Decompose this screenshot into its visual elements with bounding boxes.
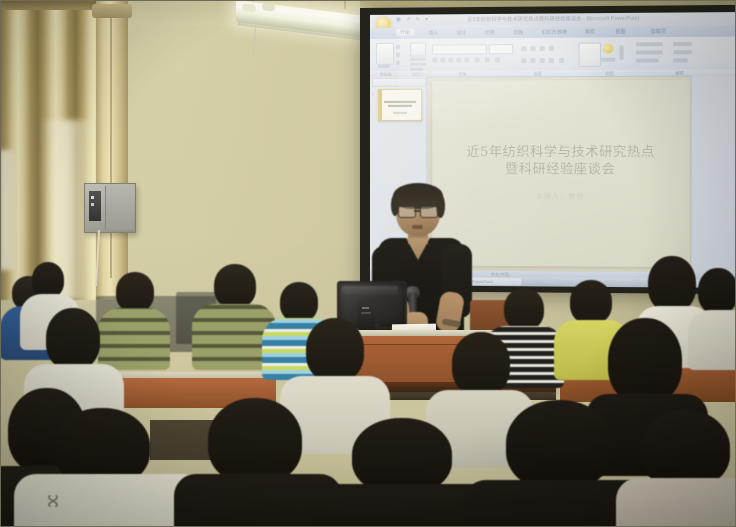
tab-view[interactable]: 视图 bbox=[615, 28, 625, 35]
decrease-indent-icon[interactable] bbox=[540, 46, 545, 51]
audience-member bbox=[318, 418, 488, 527]
tab-insert[interactable]: 插入 bbox=[428, 29, 438, 36]
increase-indent-icon[interactable] bbox=[549, 46, 554, 51]
font-name-combo[interactable] bbox=[432, 44, 487, 54]
align-right-icon[interactable] bbox=[540, 58, 545, 63]
shape-outline-button[interactable] bbox=[636, 42, 663, 46]
find-button[interactable] bbox=[673, 42, 692, 46]
quick-styles-button[interactable] bbox=[636, 58, 659, 62]
shadow-icon[interactable] bbox=[456, 57, 461, 62]
eyeglasses-icon bbox=[420, 206, 438, 218]
person-head bbox=[32, 262, 64, 298]
reset-button[interactable] bbox=[410, 63, 426, 66]
lecture-hall-photo: 近5年纺织科学与技术研究热点暨科研经验座谈会 - Microsoft Power… bbox=[0, 0, 736, 527]
align-left-icon[interactable] bbox=[521, 58, 526, 63]
underline-icon[interactable] bbox=[448, 58, 453, 63]
person-head bbox=[280, 282, 318, 322]
tab-review[interactable]: 审阅 bbox=[585, 28, 595, 35]
person-head bbox=[214, 264, 256, 308]
person-head bbox=[46, 308, 100, 370]
slide-title: 近5年纺织科学与技术研究热点 暨科研经验座谈会 bbox=[432, 143, 690, 178]
optical-drive-icon bbox=[361, 312, 371, 314]
arrange-button[interactable] bbox=[601, 58, 615, 62]
italic-icon[interactable] bbox=[440, 58, 445, 63]
slide-title-line-2: 暨科研经验座谈会 bbox=[432, 161, 690, 178]
person-head bbox=[306, 318, 364, 382]
thumbnail-title-line bbox=[384, 101, 416, 103]
tab-home[interactable]: 开始 bbox=[396, 29, 414, 36]
cut-icon[interactable] bbox=[396, 45, 400, 49]
layout-button[interactable] bbox=[410, 58, 426, 61]
lamp-end-cap bbox=[242, 3, 256, 13]
powerpoint-title-text: 近5年纺织科学与技术研究热点暨科研经验座谈会 - Microsoft Power… bbox=[467, 15, 639, 23]
bullets-icon[interactable] bbox=[521, 46, 526, 51]
group-label-font: 字体 bbox=[458, 72, 466, 78]
select-button[interactable] bbox=[673, 58, 688, 62]
thumbnail-tab-slides[interactable] bbox=[372, 78, 426, 87]
copy-icon[interactable] bbox=[396, 53, 400, 57]
audience-member bbox=[24, 408, 194, 527]
quick-access-toolbar[interactable]: ▣ ↺ ↻ ▾ bbox=[396, 16, 430, 22]
bold-icon[interactable] bbox=[432, 58, 437, 63]
electrical-box-door bbox=[105, 186, 134, 230]
font-size-combo[interactable] bbox=[489, 44, 513, 54]
numbering-icon[interactable] bbox=[530, 46, 535, 51]
eyeglasses-icon bbox=[398, 206, 416, 218]
paste-label bbox=[378, 65, 390, 68]
tab-animations[interactable]: 动画 bbox=[513, 29, 523, 36]
thumbnail-accent-bar bbox=[379, 90, 382, 120]
person-head bbox=[698, 268, 736, 314]
person-head bbox=[648, 256, 696, 312]
electrical-box bbox=[84, 183, 136, 233]
char-spacing-icon[interactable] bbox=[475, 57, 480, 62]
indicator-led-icon bbox=[91, 203, 94, 206]
audience-member bbox=[620, 410, 736, 527]
audience-member bbox=[196, 264, 272, 364]
format-painter-icon[interactable] bbox=[396, 61, 400, 65]
power-button-icon bbox=[362, 307, 369, 309]
shirt-pinwheel-logo-icon bbox=[46, 494, 60, 508]
indicator-led-icon bbox=[91, 196, 94, 199]
pillar-cap bbox=[92, 4, 132, 18]
columns-icon[interactable] bbox=[559, 58, 564, 63]
font-color-icon[interactable] bbox=[495, 57, 500, 62]
monitor-glare bbox=[342, 286, 398, 296]
paste-button[interactable] bbox=[376, 43, 394, 65]
group-label-drawing: 绘图 bbox=[605, 71, 613, 77]
pillar-seam bbox=[110, 18, 112, 278]
presenter-mouth bbox=[412, 225, 423, 229]
tab-design[interactable]: 设计 bbox=[456, 29, 466, 36]
group-label-editing: 编辑 bbox=[675, 71, 683, 77]
shape-effects-button[interactable] bbox=[636, 50, 663, 54]
person-head bbox=[504, 288, 544, 330]
person-head bbox=[452, 332, 510, 396]
tab-transitions[interactable]: 切换 bbox=[485, 29, 495, 36]
thumbnail-title-line bbox=[388, 105, 412, 107]
person-head bbox=[640, 410, 730, 488]
thumbnail-sub-line bbox=[393, 112, 407, 114]
slide-thumbnail-1[interactable] bbox=[378, 89, 422, 121]
slide-title-line-1: 近5年纺织科学与技术研究热点 bbox=[432, 143, 690, 160]
change-case-icon[interactable] bbox=[485, 57, 490, 62]
person-torso bbox=[616, 478, 736, 527]
new-slide-button[interactable] bbox=[410, 43, 426, 57]
person-head bbox=[116, 272, 154, 312]
wall-pillar bbox=[96, 0, 128, 300]
tab-addins[interactable]: 加载项 bbox=[650, 28, 666, 35]
person-head bbox=[208, 398, 302, 484]
strikethrough-icon[interactable] bbox=[464, 57, 469, 62]
ceiling-light-fixture bbox=[236, 0, 376, 42]
shapes-gallery[interactable] bbox=[578, 43, 601, 67]
quick-styles-icon[interactable] bbox=[620, 45, 624, 59]
person-head bbox=[352, 418, 452, 494]
thumbnail-slide-number: 1 bbox=[372, 91, 374, 96]
audience-member bbox=[182, 398, 332, 527]
lamp-end-cap bbox=[262, 2, 275, 12]
align-center-icon[interactable] bbox=[530, 58, 535, 63]
person-head bbox=[506, 400, 612, 490]
justify-icon[interactable] bbox=[549, 58, 554, 63]
replace-button[interactable] bbox=[673, 50, 692, 54]
person-head bbox=[608, 318, 682, 404]
shape-fill-icon[interactable] bbox=[603, 43, 613, 53]
eyeglasses-bridge bbox=[414, 210, 420, 212]
window-light bbox=[0, 150, 16, 270]
right-task-pane[interactable] bbox=[691, 75, 736, 273]
tab-slideshow[interactable]: 幻灯片放映 bbox=[542, 29, 568, 36]
lamp-hanger bbox=[344, 0, 346, 9]
group-label-paragraph: 段落 bbox=[533, 71, 541, 77]
